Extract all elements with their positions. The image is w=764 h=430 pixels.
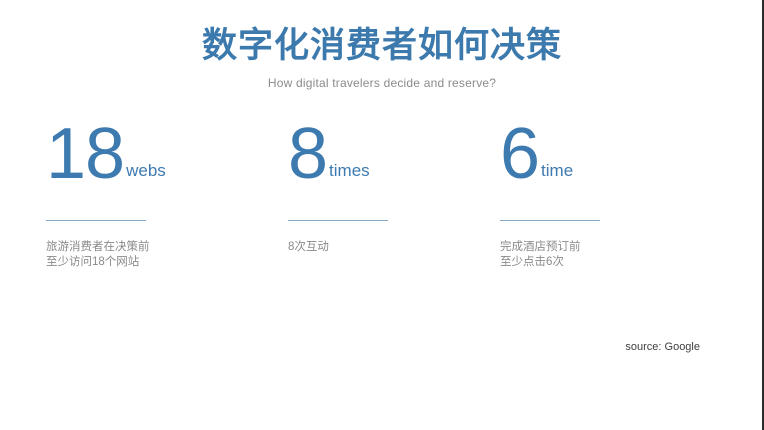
- stat-divider: [500, 220, 600, 221]
- statistics-row: 18 webs 旅游消费者在决策前 至少访问18个网站 8 times 8次互动…: [0, 118, 764, 298]
- stat-unit-label: times: [329, 162, 370, 179]
- page-subtitle: How digital travelers decide and reserve…: [0, 74, 764, 92]
- stat-number: 18: [46, 118, 124, 190]
- slide-header: 数字化消费者如何决策 How digital travelers decide …: [0, 24, 764, 92]
- stat-block-time: 6 time 完成酒店预订前 至少点击6次: [500, 118, 710, 270]
- stat-unit-label: time: [541, 162, 573, 179]
- page-title: 数字化消费者如何决策: [0, 24, 764, 68]
- stat-block-times: 8 times 8次互动: [288, 118, 498, 255]
- source-attribution: source: Google: [625, 340, 700, 354]
- stat-figure: 8 times: [288, 118, 498, 192]
- stat-number: 8: [288, 118, 327, 190]
- slide-canvas: 数字化消费者如何决策 How digital travelers decide …: [0, 0, 764, 430]
- stat-number: 6: [500, 118, 539, 190]
- stat-description: 完成酒店预订前 至少点击6次: [500, 240, 710, 270]
- stat-figure: 6 time: [500, 118, 710, 192]
- stat-divider: [46, 220, 146, 221]
- stat-divider: [288, 220, 388, 221]
- stat-figure: 18 webs: [46, 118, 256, 192]
- stat-block-webs: 18 webs 旅游消费者在决策前 至少访问18个网站: [46, 118, 256, 270]
- stat-unit-label: webs: [126, 162, 166, 179]
- stat-description: 旅游消费者在决策前 至少访问18个网站: [46, 240, 256, 270]
- stat-description: 8次互动: [288, 240, 498, 255]
